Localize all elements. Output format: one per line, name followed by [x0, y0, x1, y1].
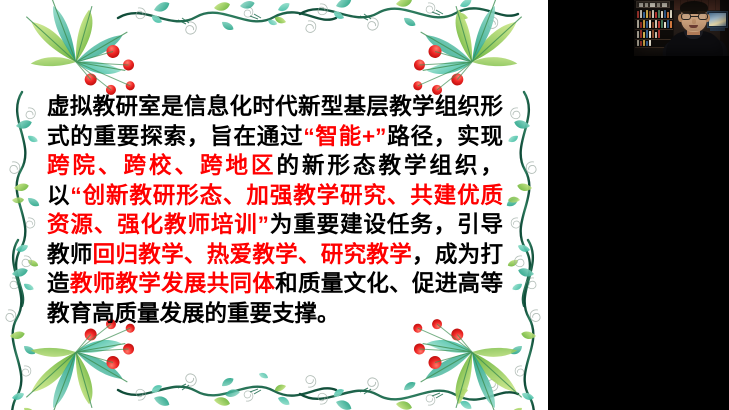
webcam-video-frame	[634, 0, 729, 56]
border-right-vine-2	[509, 240, 540, 410]
slide-body-text: 虚拟教研室是信息化时代新型基层教学组织形式的重要探索，旨在通过“智能+”路径，实…	[47, 92, 503, 328]
corner-bouquet-top-left	[14, 0, 149, 99]
text-run-3: 路径，实现	[386, 124, 503, 149]
slide-paragraph: 虚拟教研室是信息化时代新型基层教学组织形式的重要探索，旨在通过“智能+”路径，实…	[47, 92, 503, 328]
screen-share-view: 虚拟教研室是信息化时代新型基层教学组织形式的重要探索，旨在通过“智能+”路径，实…	[0, 0, 729, 410]
webcam-vignette	[634, 0, 729, 56]
text-run-8-highlight: 回归教学、热爱教学、研究教学	[93, 242, 412, 267]
corner-bouquet-bottom-right	[399, 315, 534, 410]
border-top-vine	[118, 0, 336, 34]
text-run-10-highlight: 教师教学发展共同体	[70, 271, 275, 296]
border-top-vine-2	[300, 0, 518, 30]
presentation-slide: 虚拟教研室是信息化时代新型基层教学组织形式的重要探索，旨在通过“智能+”路径，实…	[0, 0, 548, 410]
corner-bouquet-top-right	[399, 0, 534, 99]
border-bottom-vine-2	[300, 378, 518, 410]
presenter-webcam-tile[interactable]	[634, 0, 729, 56]
text-run-2-highlight: “智能+”	[303, 124, 386, 149]
border-left-vine	[10, 92, 41, 306]
border-bottom-vine	[118, 374, 336, 408]
corner-bouquet-bottom-left	[14, 315, 149, 410]
border-right-vine	[505, 92, 536, 306]
text-run-4-highlight: 跨院、跨校、跨地区	[47, 153, 276, 178]
border-left-vine-2	[6, 240, 37, 410]
